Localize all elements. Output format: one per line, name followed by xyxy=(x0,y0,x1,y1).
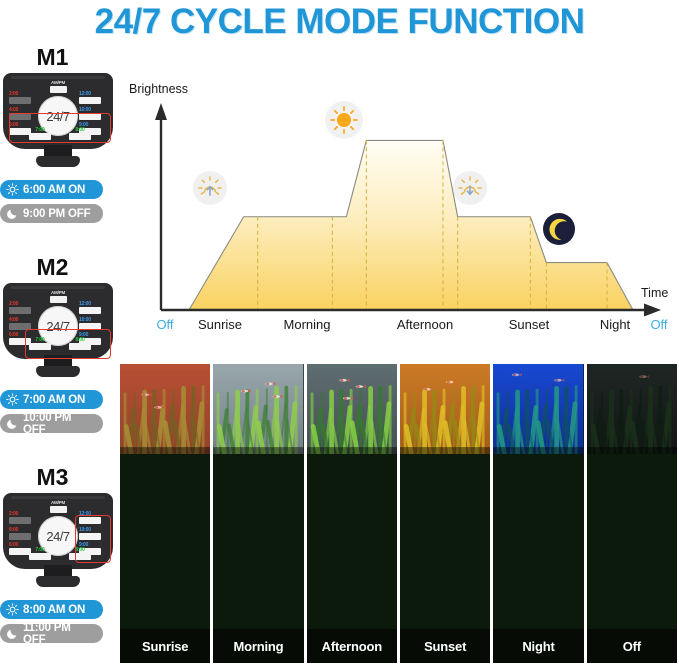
moon-icon xyxy=(6,627,19,640)
aquarium-image xyxy=(307,364,397,454)
photo-panel-afternoon: Afternoon xyxy=(307,364,397,663)
device-bottom-row: 7:008:00 xyxy=(29,547,91,560)
ampm-button[interactable]: AM/PM xyxy=(46,290,70,303)
sun-icon xyxy=(6,393,19,406)
panel-caption: Off xyxy=(587,629,677,663)
sun-icon xyxy=(325,101,363,139)
aquarium-image xyxy=(587,364,677,454)
panel-caption: Sunset xyxy=(400,629,490,663)
device-bottom-row: 7:008:00 xyxy=(29,127,91,140)
device-key[interactable] xyxy=(79,323,101,330)
aquarium-image xyxy=(213,364,303,454)
device-button-left-1[interactable]: 6:00 xyxy=(9,527,35,540)
aquarium-image xyxy=(400,364,490,454)
schedule-on-badge: 8:00 AM ON xyxy=(0,600,103,619)
device-button-time: 10:00 xyxy=(79,317,105,323)
panel-caption: Night xyxy=(493,629,583,663)
device-button-right-0[interactable]: 12:00 xyxy=(79,511,105,524)
sun-icon xyxy=(6,183,19,196)
chart-tick-labels: OffSunriseMorningAfternoonSunsetNightOff xyxy=(156,317,667,332)
photo-panel-night: Night xyxy=(493,364,583,663)
off-time-label: 9:00 PM OFF xyxy=(23,208,90,220)
device-key[interactable] xyxy=(9,97,31,104)
controller-device[interactable]: AM/PM2:004:006:0012:0010:009:0024/77:008… xyxy=(3,283,113,385)
schedule-off-badge: 11:00 PM OFF xyxy=(0,624,103,643)
photo-panel-sunrise: Sunrise xyxy=(120,364,210,663)
module-title: M1 xyxy=(0,46,105,69)
device-key[interactable] xyxy=(9,533,31,540)
x-axis-label: Time xyxy=(641,286,668,300)
module-m3: M3AM/PM2:006:006:0012:0010:009:0024/77:0… xyxy=(0,466,122,643)
ampm-key[interactable] xyxy=(50,506,67,513)
photo-panel-off: Off xyxy=(587,364,677,663)
device-base xyxy=(36,366,80,377)
sun-icon xyxy=(6,603,19,616)
device-key[interactable] xyxy=(79,97,101,104)
device-bottom-row: 7:008:00 xyxy=(29,337,91,350)
off-time-label: 11:00 PM OFF xyxy=(23,622,95,646)
device-key[interactable] xyxy=(29,553,51,560)
device-key[interactable] xyxy=(9,307,31,314)
device-key[interactable] xyxy=(9,128,31,135)
dial-label: 24/7 xyxy=(46,529,69,544)
schedule-off-badge: 9:00 PM OFF xyxy=(0,204,103,223)
x-tick-sunrise-1: Sunrise xyxy=(198,317,242,332)
device-key[interactable] xyxy=(29,343,51,350)
off-time-label: 10:00 PM OFF xyxy=(23,412,95,436)
device-key[interactable] xyxy=(9,338,31,345)
x-tick-off-0: Off xyxy=(156,317,173,332)
y-axis-label: Brightness xyxy=(129,82,188,96)
dial-label: 24/7 xyxy=(46,109,69,124)
device-button-left-1[interactable]: 4:00 xyxy=(9,107,35,120)
moon-icon xyxy=(543,213,575,245)
module-title: M3 xyxy=(0,466,105,489)
schedule-on-badge: 7:00 AM ON xyxy=(0,390,103,409)
lighting-mode-photo-strip: SunriseMorningAfternoonSunsetNightOff xyxy=(120,364,677,663)
panel-caption: Sunrise xyxy=(120,629,210,663)
module-m2: M2AM/PM2:004:006:0012:0010:009:0024/77:0… xyxy=(0,256,122,433)
controller-device[interactable]: AM/PM2:006:006:0012:0010:009:0024/77:008… xyxy=(3,493,113,595)
device-button-right-1[interactable]: 10:00 xyxy=(79,527,105,540)
device-button-bottom-0[interactable]: 7:00 xyxy=(29,547,51,560)
device-key[interactable] xyxy=(9,113,31,120)
device-face: AM/PM2:006:006:0012:0010:009:0024/77:008… xyxy=(7,499,109,563)
on-time-label: 7:00 AM ON xyxy=(23,394,85,406)
device-key[interactable] xyxy=(79,517,101,524)
sunrise-icon xyxy=(193,171,227,205)
ampm-button[interactable]: AM/PM xyxy=(46,500,70,513)
device-base xyxy=(36,156,80,167)
module-title: M2 xyxy=(0,256,105,279)
photo-panel-morning: Morning xyxy=(213,364,303,663)
dial-label: 24/7 xyxy=(46,319,69,334)
ampm-key[interactable] xyxy=(50,296,67,303)
aquarium-image xyxy=(120,364,210,454)
x-tick-off-6: Off xyxy=(650,317,667,332)
device-face: AM/PM2:004:006:0012:0010:009:0024/77:008… xyxy=(7,79,109,143)
device-button-bottom-0[interactable]: 7:00 xyxy=(29,127,51,140)
device-key[interactable] xyxy=(69,133,91,140)
device-key[interactable] xyxy=(79,113,101,120)
device-button-left-0[interactable]: 2:00 xyxy=(9,91,35,104)
moon-icon xyxy=(6,207,19,220)
sunset-icon xyxy=(453,171,487,205)
device-button-bottom-1[interactable]: 8:00 xyxy=(69,547,91,560)
device-base xyxy=(36,576,80,587)
device-button-bottom-1[interactable]: 8:00 xyxy=(69,127,91,140)
device-key[interactable] xyxy=(69,343,91,350)
device-button-right-0[interactable]: 12:00 xyxy=(79,91,105,104)
x-tick-sunset-4: Sunset xyxy=(509,317,550,332)
schedule-off-badge: 10:00 PM OFF xyxy=(0,414,103,433)
device-key[interactable] xyxy=(29,133,51,140)
device-key[interactable] xyxy=(9,323,31,330)
aquarium-image xyxy=(493,364,583,454)
ampm-button[interactable]: AM/PM xyxy=(46,80,70,93)
device-button-right-0[interactable]: 12:00 xyxy=(79,301,105,314)
device-button-time: 10:00 xyxy=(79,527,105,533)
panel-caption: Morning xyxy=(213,629,303,663)
device-button-left-0[interactable]: 2:00 xyxy=(9,511,35,524)
module-m1: M1AM/PM2:004:006:0012:0010:009:0024/77:0… xyxy=(0,46,122,223)
device-key[interactable] xyxy=(79,307,101,314)
device-button-time: 4:00 xyxy=(9,317,35,323)
device-button-left-0[interactable]: 2:00 xyxy=(9,301,35,314)
on-time-label: 8:00 AM ON xyxy=(23,604,85,616)
device-button-time: 10:00 xyxy=(79,107,105,113)
controller-device[interactable]: AM/PM2:004:006:0012:0010:009:0024/77:008… xyxy=(3,73,113,175)
ampm-key[interactable] xyxy=(50,86,67,93)
device-button-right-1[interactable]: 10:00 xyxy=(79,317,105,330)
device-button-bottom-1[interactable]: 8:00 xyxy=(69,337,91,350)
ampm-label: AM/PM xyxy=(46,500,70,505)
ampm-label: AM/PM xyxy=(46,290,70,295)
device-key[interactable] xyxy=(9,548,31,555)
on-time-label: 6:00 AM ON xyxy=(23,184,85,196)
panel-caption: Afternoon xyxy=(307,629,397,663)
brightness-cycle-chart: Brightness Time OffSunriseMorningAfterno… xyxy=(125,75,679,335)
schedule-on-badge: 6:00 AM ON xyxy=(0,180,103,199)
device-button-time: 4:00 xyxy=(9,107,35,113)
device-button-bottom-0[interactable]: 7:00 xyxy=(29,337,51,350)
device-key[interactable] xyxy=(69,553,91,560)
device-key[interactable] xyxy=(9,517,31,524)
device-button-time: 6:00 xyxy=(9,527,35,533)
device-button-left-1[interactable]: 4:00 xyxy=(9,317,35,330)
device-key[interactable] xyxy=(79,533,101,540)
photo-panel-sunset: Sunset xyxy=(400,364,490,663)
x-tick-afternoon-3: Afternoon xyxy=(397,317,453,332)
x-tick-night-5: Night xyxy=(600,317,631,332)
x-tick-morning-2: Morning xyxy=(284,317,331,332)
moon-icon xyxy=(6,417,19,430)
device-face: AM/PM2:004:006:0012:0010:009:0024/77:008… xyxy=(7,289,109,353)
device-button-right-1[interactable]: 10:00 xyxy=(79,107,105,120)
page-title: 24/7 CYCLE MODE FUNCTION xyxy=(0,2,679,42)
ampm-label: AM/PM xyxy=(46,80,70,85)
